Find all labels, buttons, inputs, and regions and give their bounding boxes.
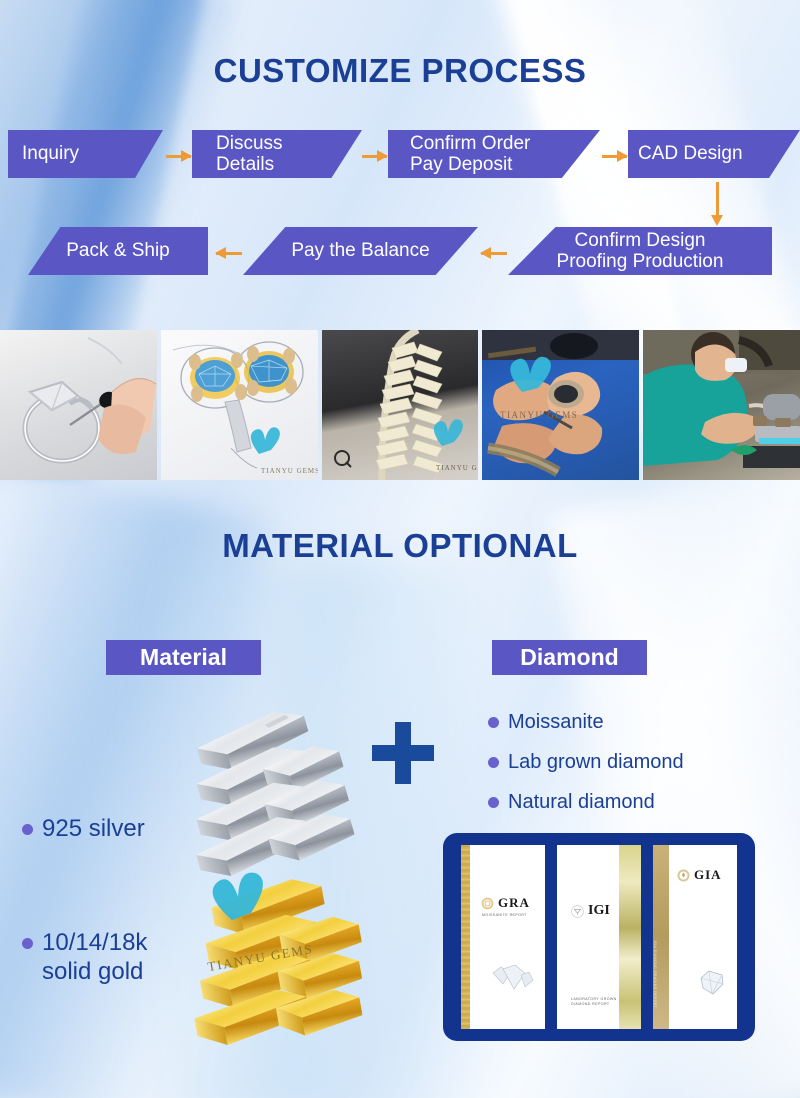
diamond-option-label: Lab grown diamond: [508, 750, 684, 774]
process-flowchart: Inquiry Discuss Details Confirm Order Pa…: [0, 0, 800, 300]
flow-step-label: Pay the Balance: [291, 240, 429, 261]
certificate-strip: [461, 845, 470, 1029]
svg-text:TIANYU GEMS: TIANYU GEMS: [261, 467, 318, 475]
certificate-strip-text: GIA DIAMOND GRADING REPORT: [653, 941, 657, 1008]
flow-step-label: Pack & Ship: [66, 240, 170, 261]
certificate-gra[interactable]: GRA MOISSANITE REPORT: [461, 845, 545, 1029]
arrow-right-icon: [362, 155, 387, 158]
certificate-subtitle: LABORATORY GROWN DIAMOND REPORT: [571, 997, 617, 1008]
bullet-dot-icon: [488, 757, 499, 768]
metal-bars-illustration: TIANYU GEMS: [175, 700, 385, 1050]
certificate-name: IGI: [588, 903, 610, 919]
photo-wax-tree[interactable]: TIANYU GEMS: [322, 330, 479, 480]
flow-step-confirm-design[interactable]: Confirm Design Proofing Production: [508, 227, 772, 275]
material-tag-label: Material: [140, 644, 227, 671]
flow-step-pay-balance[interactable]: Pay the Balance: [243, 227, 478, 275]
arrow-right-icon: [166, 155, 191, 158]
flow-step-cad-design[interactable]: CAD Design: [628, 130, 800, 178]
certificate-igi[interactable]: IGI LABORATORY GROWN DIAMOND REPORT: [557, 845, 641, 1029]
certificate-logo: GRA: [481, 895, 530, 911]
certificate-strip: [619, 845, 641, 1029]
flow-step-label: Confirm Design Proofing Production: [557, 230, 724, 273]
diamond-option-label: Natural diamond: [508, 790, 655, 814]
flow-step-label: Confirm Order Pay Deposit: [410, 133, 530, 176]
material-option-label: 10/14/18k solid gold: [42, 928, 147, 987]
certificate-name: GRA: [498, 895, 530, 911]
photo-cad-design[interactable]: TIANYU GEMS: [161, 330, 318, 480]
svg-text:TIANYU GEMS: TIANYU GEMS: [500, 410, 578, 420]
flow-step-pack-ship[interactable]: Pack & Ship: [28, 227, 208, 275]
bullet-dot-icon: [22, 824, 33, 835]
certificate-name: GIA: [694, 867, 722, 883]
photo-ring-sketch[interactable]: [0, 330, 157, 480]
poster-page: CUSTOMIZE PROCESS Inquiry Discuss Detail…: [0, 0, 800, 1098]
material-option-silver[interactable]: 925 silver: [22, 814, 145, 843]
flow-step-label: Discuss Details: [216, 133, 283, 176]
certificate-subtitle: MOISSANITE REPORT: [482, 913, 527, 917]
arrow-right-icon: [602, 155, 627, 158]
flow-step-confirm-order[interactable]: Confirm Order Pay Deposit: [388, 130, 600, 178]
material-optional-title: MATERIAL OPTIONAL: [0, 527, 800, 565]
diamond-option-lab-grown[interactable]: Lab grown diamond: [488, 750, 684, 774]
arrow-down-icon: [716, 182, 719, 216]
material-option-label: 925 silver: [42, 814, 145, 843]
certificate-logo: IGI: [571, 903, 610, 919]
diamond-option-label: Moissanite: [508, 710, 604, 734]
arrow-left-icon: [481, 252, 507, 255]
bullet-dot-icon: [488, 797, 499, 808]
flow-step-label: CAD Design: [638, 143, 743, 164]
svg-text:TIANYU GEMS: TIANYU GEMS: [436, 464, 479, 472]
certificate-card: GRA MOISSANITE REPORT IGI LABORATORY GRO…: [443, 833, 755, 1041]
photo-polishing[interactable]: [643, 330, 800, 480]
certificate-gia[interactable]: GIA DIAMOND GRADING REPORT GIA: [653, 845, 737, 1029]
certificate-logo: GIA: [677, 867, 722, 883]
flow-step-label: Inquiry: [22, 143, 79, 164]
bullet-dot-icon: [488, 717, 499, 728]
photo-stone-setting[interactable]: TIANYU GEMS: [482, 330, 639, 480]
diamond-tag[interactable]: Diamond: [492, 640, 647, 675]
diamond-option-natural[interactable]: Natural diamond: [488, 790, 655, 814]
process-photo-gallery: TIANYU GEMS: [0, 330, 800, 480]
diamond-tag-label: Diamond: [520, 644, 618, 671]
diamond-option-moissanite[interactable]: Moissanite: [488, 710, 604, 734]
flow-step-discuss-details[interactable]: Discuss Details: [192, 130, 362, 178]
flow-step-inquiry[interactable]: Inquiry: [8, 130, 163, 178]
material-tag[interactable]: Material: [106, 640, 261, 675]
bullet-dot-icon: [22, 938, 33, 949]
material-option-gold[interactable]: 10/14/18k solid gold: [22, 928, 147, 987]
arrow-left-icon: [216, 252, 242, 255]
